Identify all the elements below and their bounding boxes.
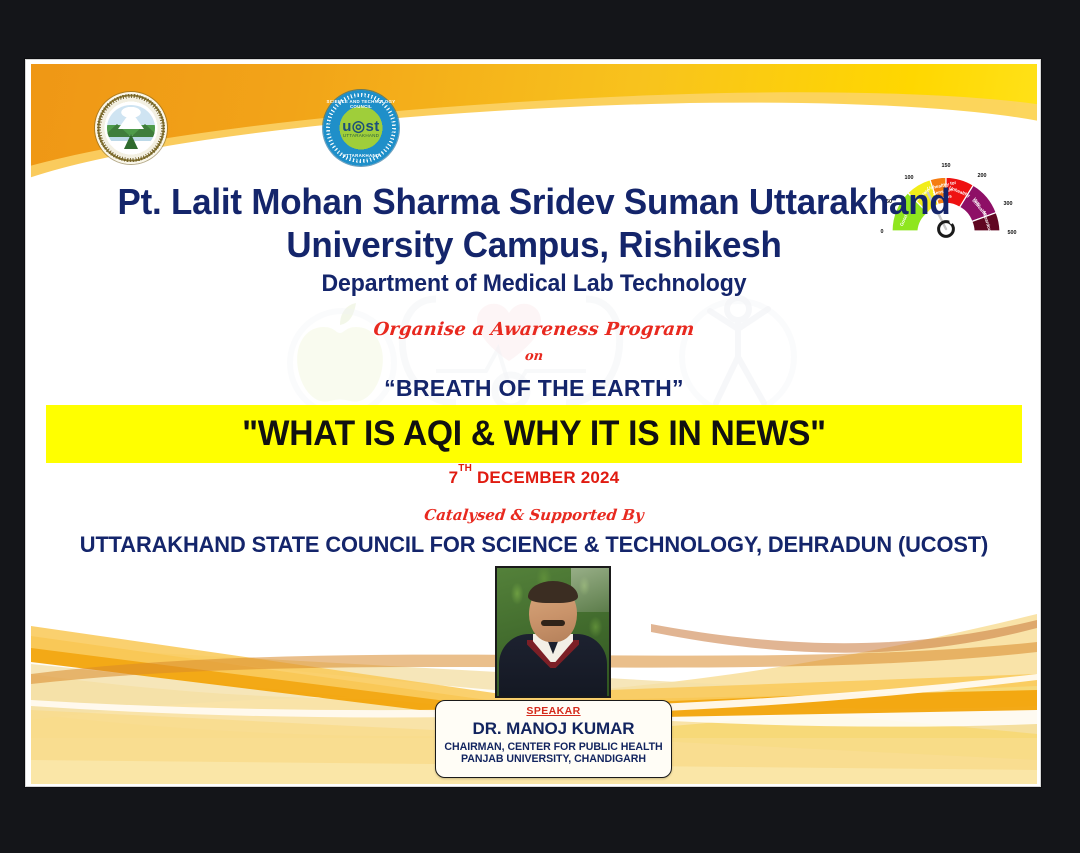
speaker-role-label: SPEAKAR [436,705,671,717]
headline-text: "WHAT IS AQI & WHY IT IS IN NEWS" [242,414,826,454]
supporting-organisation: UTTARAKHAND STATE COUNCIL FOR SCIENCE & … [46,532,1022,558]
speaker-photo [495,566,611,698]
event-date-ordinal: TH [458,463,472,474]
headline-highlight-band: "WHAT IS AQI & WHY IT IS IN NEWS" [46,405,1022,463]
event-date: 7TH DECEMBER 2024 [31,468,1037,488]
institution-title-line1: Pt. Lalit Mohan Sharma Sridev Suman Utta… [46,180,1022,223]
department-subtitle: Department of Medical Lab Technology [51,270,1017,298]
program-theme: “BREATH OF THE EARTH” [31,375,1037,402]
event-date-day: 7 [449,468,459,487]
poster-canvas: SCIENCE AND TECHNOLOGY COUNCIL u◎st UTTA… [31,64,1037,784]
poster-frame: SCIENCE AND TECHNOLOGY COUNCIL u◎st UTTA… [25,59,1041,787]
event-date-month-year: DECEMBER 2024 [477,468,619,487]
poster-content: Pt. Lalit Mohan Sharma Sridev Suman Utta… [31,64,1037,784]
speaker-info-card: SPEAKAR DR. MANOJ KUMAR CHAIRMAN, CENTER… [435,700,672,778]
screenshot-root: SCIENCE AND TECHNOLOGY COUNCIL u◎st UTTA… [0,0,1080,853]
photo-person-moustache [541,620,565,626]
institution-title-line2: University Campus, Rishikesh [46,223,1022,266]
institution-title: Pt. Lalit Mohan Sharma Sridev Suman Utta… [46,180,1022,266]
speaker-name: DR. MANOJ KUMAR [436,719,671,739]
catalysed-label: Catalysed & Supported By [31,506,1037,524]
photo-window-pane [571,568,609,612]
speaker-affiliation-line2: PANJAB UNIVERSITY, CHANDIGARH [436,753,671,765]
speaker-affiliation-line1: CHAIRMAN, CENTER FOR PUBLIC HEALTH [436,741,671,753]
organise-script-text: Organise a Awareness Program [31,319,1037,340]
on-script-word: on [31,349,1037,364]
